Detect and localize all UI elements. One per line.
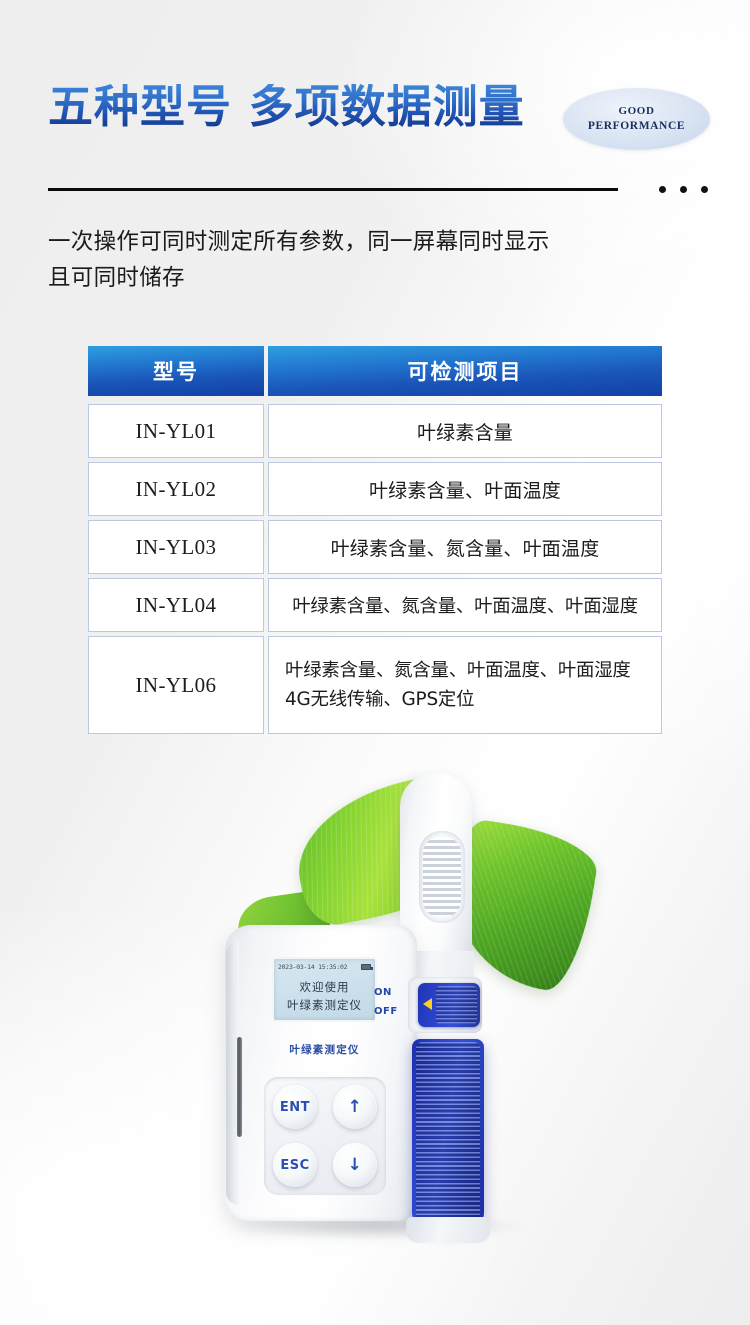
header-divider	[48, 188, 618, 191]
device-base	[406, 1217, 490, 1243]
spec-table: 型号 可检测项目 IN-YL01 叶绿素含量 IN-YL02 叶绿素含量、叶面温…	[88, 346, 662, 738]
dot-1	[659, 186, 666, 193]
lcd-status-bar: 2023-03-14 15:35:02	[278, 963, 371, 971]
cell-items: 叶绿素含量、氮含量、叶面温度、叶面湿度 4G无线传输、GPS定位	[268, 636, 662, 734]
badge-line-1: GOOD	[618, 105, 654, 119]
badge-line-2: PERFORMANCE	[588, 119, 685, 133]
power-on-label: ON	[374, 983, 404, 1002]
lcd-line-2: 叶绿素测定仪	[274, 997, 375, 1013]
grip-pad-ribs	[423, 837, 461, 917]
cell-items: 叶绿素含量	[268, 404, 662, 458]
table-row: IN-YL06 叶绿素含量、氮含量、叶面温度、叶面湿度 4G无线传输、GPS定位	[88, 636, 662, 734]
column-header-model: 型号	[88, 346, 264, 396]
battery-icon	[361, 964, 371, 970]
cell-items: 叶绿素含量、氮含量、叶面温度	[268, 520, 662, 574]
good-performance-badge: GOOD PERFORMANCE	[563, 88, 710, 150]
down-arrow-key[interactable]: ↓	[333, 1143, 377, 1187]
subtitle-line-2: 且可同时储存	[48, 261, 668, 296]
cell-items-line-1: 叶绿素含量、氮含量、叶面温度、叶面湿度	[285, 656, 631, 685]
cell-model: IN-YL02	[88, 462, 264, 516]
cell-model: IN-YL06	[88, 636, 264, 734]
table-row: IN-YL04 叶绿素含量、氮含量、叶面温度、叶面湿度	[88, 578, 662, 632]
table-header-row: 型号 可检测项目	[88, 346, 662, 400]
dot-3	[701, 186, 708, 193]
subtitle-line-1: 一次操作可同时测定所有参数，同一屏幕同时显示	[48, 225, 668, 260]
page-title: 五种型号 多项数据测量	[48, 84, 525, 129]
power-off-label: OFF	[374, 1002, 404, 1021]
down-arrow-icon: ↓	[348, 1157, 363, 1174]
enter-key[interactable]: ENT	[273, 1085, 317, 1129]
dot-2	[680, 186, 687, 193]
table-row: IN-YL01 叶绿素含量	[88, 404, 662, 458]
power-switch-labels: ON OFF	[374, 983, 404, 1021]
up-arrow-key[interactable]: ↑	[333, 1085, 377, 1129]
device-keypad: ENT ↑ ESC ↓	[264, 1077, 386, 1195]
escape-key[interactable]: ESC	[273, 1143, 317, 1187]
subtitle: 一次操作可同时测定所有参数，同一屏幕同时显示 且可同时储存	[48, 225, 668, 296]
up-arrow-icon: ↑	[348, 1099, 363, 1116]
cell-model: IN-YL03	[88, 520, 264, 574]
cell-items-line-2: 4G无线传输、GPS定位	[285, 685, 474, 714]
device-side-slot	[237, 1037, 242, 1137]
lcd-timestamp: 2023-03-14 15:35:02	[278, 963, 347, 971]
product-photo: 2023-03-14 15:35:02 欢迎使用 叶绿素测定仪 ENT ↑ ES…	[0, 745, 750, 1325]
cell-model: IN-YL01	[88, 404, 264, 458]
power-switch-toggle[interactable]	[418, 983, 480, 1027]
clamp-grip-pad	[419, 831, 465, 923]
header: 五种型号 多项数据测量 GOOD PERFORMANCE	[0, 0, 750, 210]
table-row: IN-YL03 叶绿素含量、氮含量、叶面温度	[88, 520, 662, 574]
lcd-line-1: 欢迎使用	[274, 979, 375, 995]
device-lcd-screen: 2023-03-14 15:35:02 欢迎使用 叶绿素测定仪	[272, 957, 377, 1022]
cell-model: IN-YL04	[88, 578, 264, 632]
device-brand-label: 叶绿素测定仪	[272, 1042, 377, 1057]
page-root: 五种型号 多项数据测量 GOOD PERFORMANCE 一次操作可同时测定所有…	[0, 0, 750, 1325]
power-switch-ribs	[436, 986, 477, 1024]
cell-items: 叶绿素含量、叶面温度	[268, 462, 662, 516]
grip-ribs	[416, 1042, 480, 1224]
table-row: IN-YL02 叶绿素含量、叶面温度	[88, 462, 662, 516]
device-blue-grip	[412, 1039, 484, 1227]
ellipsis-icon	[659, 186, 708, 193]
triangle-marker-icon	[423, 998, 432, 1010]
cell-items: 叶绿素含量、氮含量、叶面温度、叶面湿度	[268, 578, 662, 632]
column-header-items: 可检测项目	[268, 346, 662, 396]
